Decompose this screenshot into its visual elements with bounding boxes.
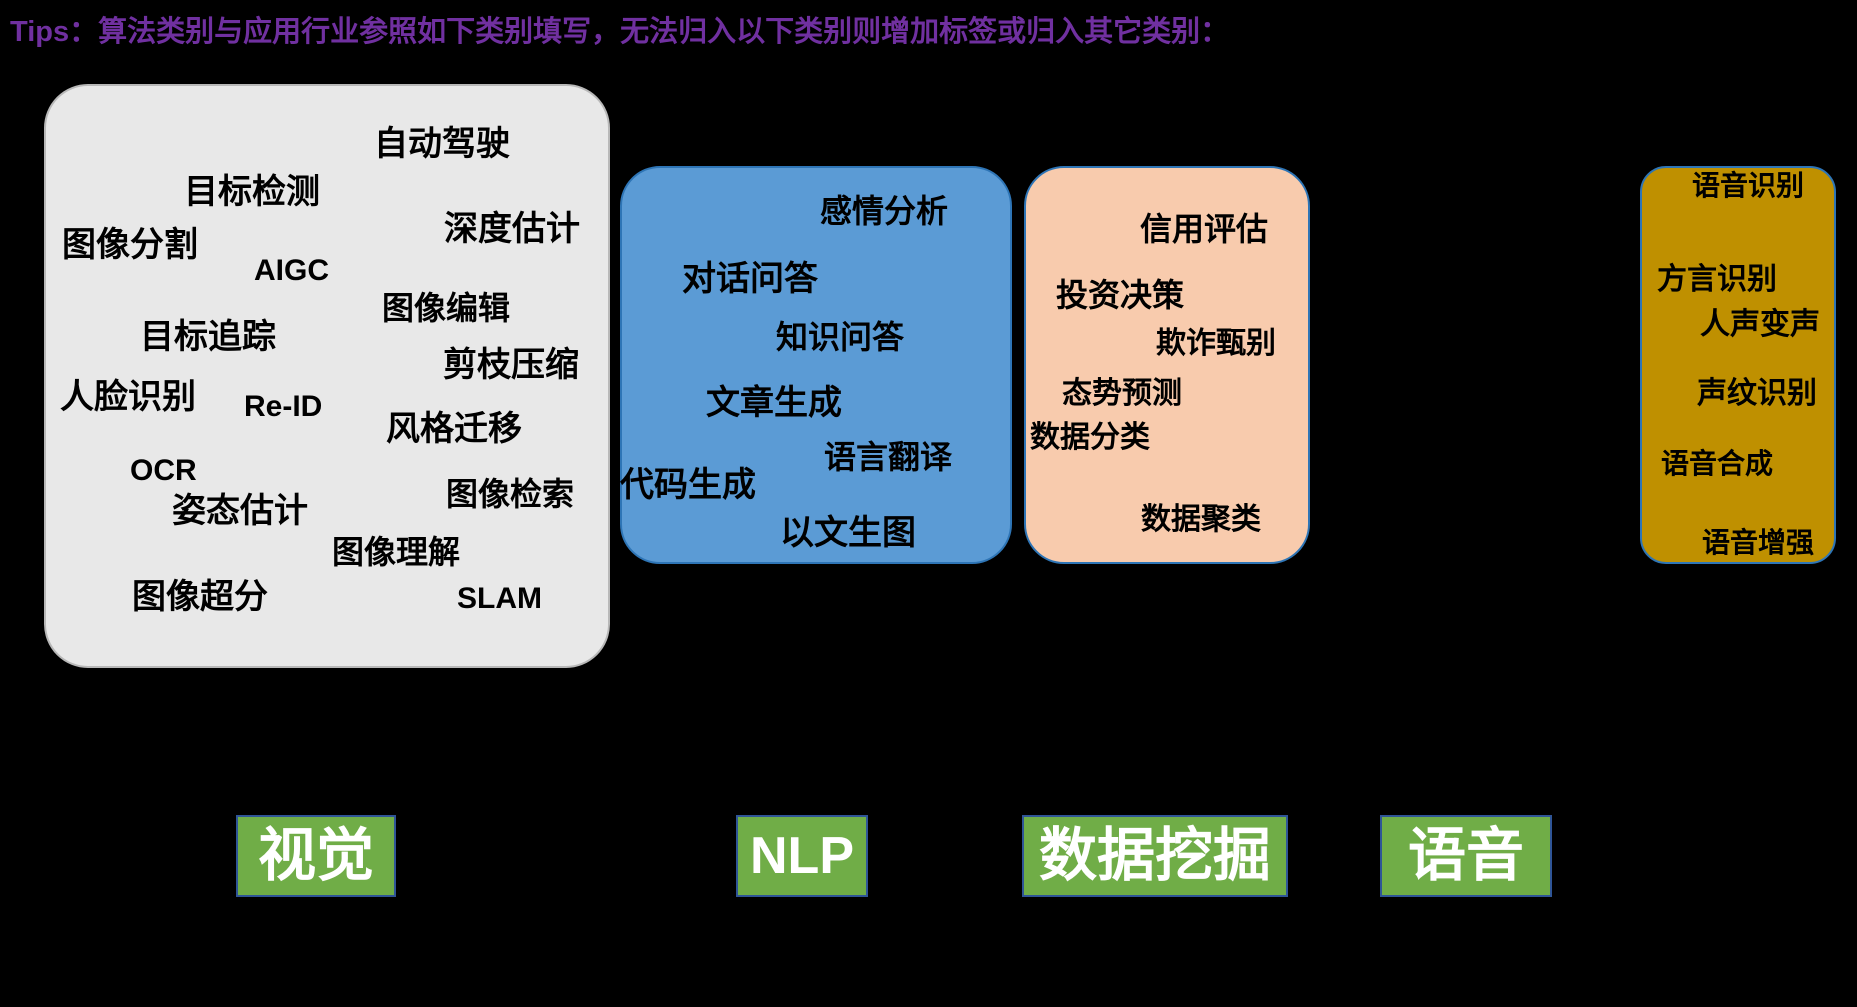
term-vision-1: 目标检测: [184, 175, 320, 209]
term-vision-7: 剪枝压缩: [443, 348, 579, 382]
term-speech-5: 语音增强: [1702, 529, 1814, 557]
panel-speech[interactable]: [1640, 166, 1836, 564]
panel-nlp[interactable]: [620, 166, 1012, 564]
term-vision-3: 图像分割: [62, 228, 198, 262]
term-vision-2: 深度估计: [444, 212, 580, 246]
chip-nlp[interactable]: NLP: [736, 815, 868, 897]
term-vision-11: OCR: [130, 456, 197, 486]
tips-label: Tips：: [10, 16, 98, 48]
chip-speech[interactable]: 语音: [1380, 815, 1552, 897]
term-mining-1: 投资决策: [1056, 279, 1184, 311]
term-mining-4: 数据分类: [1030, 423, 1150, 453]
term-speech-4: 语音合成: [1661, 450, 1773, 478]
term-vision-5: 图像编辑: [382, 292, 510, 324]
term-vision-15: 图像超分: [132, 580, 268, 614]
term-nlp-4: 语言翻译: [824, 441, 952, 473]
chip-vision[interactable]: 视觉: [236, 815, 396, 897]
term-nlp-1: 对话问答: [682, 262, 818, 296]
term-vision-10: 风格迁移: [386, 412, 522, 446]
term-mining-3: 态势预测: [1062, 379, 1182, 409]
term-speech-1: 方言识别: [1657, 265, 1777, 295]
term-mining-2: 欺诈甄别: [1156, 329, 1276, 359]
term-speech-2: 人声变声: [1700, 310, 1820, 340]
term-nlp-2: 知识问答: [776, 321, 904, 353]
chip-data-mining[interactable]: 数据挖掘: [1022, 815, 1288, 897]
term-nlp-6: 以文生图: [780, 516, 916, 550]
term-vision-13: 姿态估计: [172, 494, 308, 528]
term-nlp-3: 文章生成: [706, 386, 842, 420]
term-mining-0: 信用评估: [1140, 213, 1268, 245]
term-nlp-5: 代码生成: [620, 468, 756, 502]
term-vision-6: 目标追踪: [140, 320, 276, 354]
term-speech-0: 语音识别: [1692, 172, 1804, 200]
term-vision-16: SLAM: [457, 584, 542, 614]
term-vision-8: 人脸识别: [60, 380, 196, 414]
term-mining-5: 数据聚类: [1141, 505, 1261, 535]
term-nlp-0: 感情分析: [820, 195, 948, 227]
tips-header: Tips：算法类别与应用行业参照如下类别填写，无法归入以下类别则增加标签或归入其…: [10, 8, 1229, 50]
tips-text: 算法类别与应用行业参照如下类别填写，无法归入以下类别则增加标签或归入其它类别：: [98, 16, 1229, 48]
term-vision-14: 图像理解: [332, 536, 460, 568]
term-vision-9: Re-ID: [244, 392, 322, 422]
term-vision-4: AIGC: [254, 256, 329, 286]
term-vision-0: 自动驾驶: [374, 127, 510, 161]
term-speech-3: 声纹识别: [1697, 379, 1817, 409]
term-vision-12: 图像检索: [446, 478, 574, 510]
